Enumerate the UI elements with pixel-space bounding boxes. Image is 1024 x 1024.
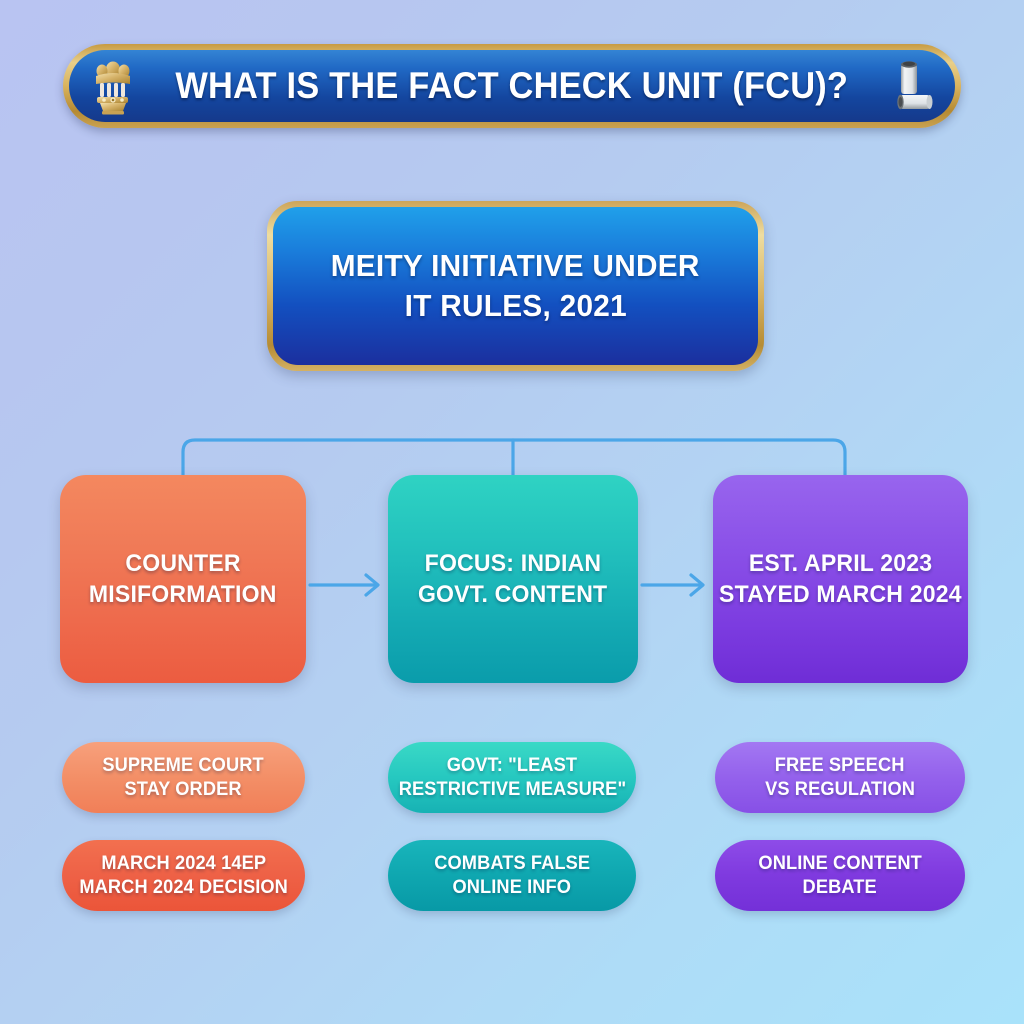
pill-line-1: MARCH 2024 14EP [101, 853, 266, 875]
infographic-canvas: WHAT IS THE FACT CHECK UNIT (FCU)? [0, 0, 1024, 1024]
subtitle-line-2: IT RULES, 2021 [404, 288, 626, 324]
subtitle-box-inner: MEITY INITIATIVE UNDER IT RULES, 2021 [273, 207, 758, 365]
box-line-1: FOCUS: INDIAN [425, 550, 602, 578]
box-line-1: COUNTER [125, 550, 240, 578]
scroll-document-icon [888, 57, 934, 115]
main-box-focus-indian-govt-content[interactable]: FOCUS: INDIAN GOVT. CONTENT [388, 475, 638, 683]
pill-line-2: RESTRICTIVE MEASURE" [398, 779, 625, 801]
india-emblem-icon [90, 56, 136, 116]
subtitle-line-1: MEITY INITIATIVE UNDER [331, 248, 700, 284]
pill-supreme-court-stay-order[interactable]: SUPREME COURT STAY ORDER [62, 742, 305, 813]
pill-line-1: FREE SPEECH [775, 755, 905, 777]
pill-line-2: STAY ORDER [125, 779, 242, 801]
box-line-2: STAYED MARCH 2024 [719, 581, 962, 609]
pill-online-content-debate[interactable]: ONLINE CONTENT DEBATE [715, 840, 965, 911]
arrow-right-icon-1 [306, 565, 388, 605]
pill-least-restrictive-measure[interactable]: GOVT: "LEAST RESTRICTIVE MEASURE" [388, 742, 636, 813]
pill-free-speech-vs-regulation[interactable]: FREE SPEECH VS REGULATION [715, 742, 965, 813]
pill-line-1: GOVT: "LEAST [447, 755, 577, 777]
pill-march-2024-decision[interactable]: MARCH 2024 14EP MARCH 2024 DECISION [62, 840, 305, 911]
box-line-2: GOVT. CONTENT [418, 581, 607, 609]
pill-line-2: DEBATE [803, 877, 877, 899]
title-banner: WHAT IS THE FACT CHECK UNIT (FCU)? [63, 44, 961, 128]
box-line-2: MISIFORMATION [89, 581, 277, 609]
pill-line-1: COMBATS FALSE [434, 853, 590, 875]
main-box-established-stayed[interactable]: EST. APRIL 2023 STAYED MARCH 2024 [713, 475, 968, 683]
page-title: WHAT IS THE FACT CHECK UNIT (FCU)? [176, 65, 849, 107]
pill-line-2: MARCH 2024 DECISION [79, 877, 288, 899]
pill-line-1: SUPREME COURT [103, 755, 264, 777]
arrow-right-icon-2 [638, 565, 713, 605]
pill-combats-false-online-info[interactable]: COMBATS FALSE ONLINE INFO [388, 840, 636, 911]
pill-line-2: VS REGULATION [765, 779, 915, 801]
pill-line-1: ONLINE CONTENT [758, 853, 921, 875]
box-line-1: EST. APRIL 2023 [749, 550, 932, 578]
main-box-counter-misinformation[interactable]: COUNTER MISIFORMATION [60, 475, 306, 683]
subtitle-box: MEITY INITIATIVE UNDER IT RULES, 2021 [267, 201, 764, 371]
title-banner-inner: WHAT IS THE FACT CHECK UNIT (FCU)? [69, 50, 955, 122]
pill-line-2: ONLINE INFO [453, 877, 572, 899]
